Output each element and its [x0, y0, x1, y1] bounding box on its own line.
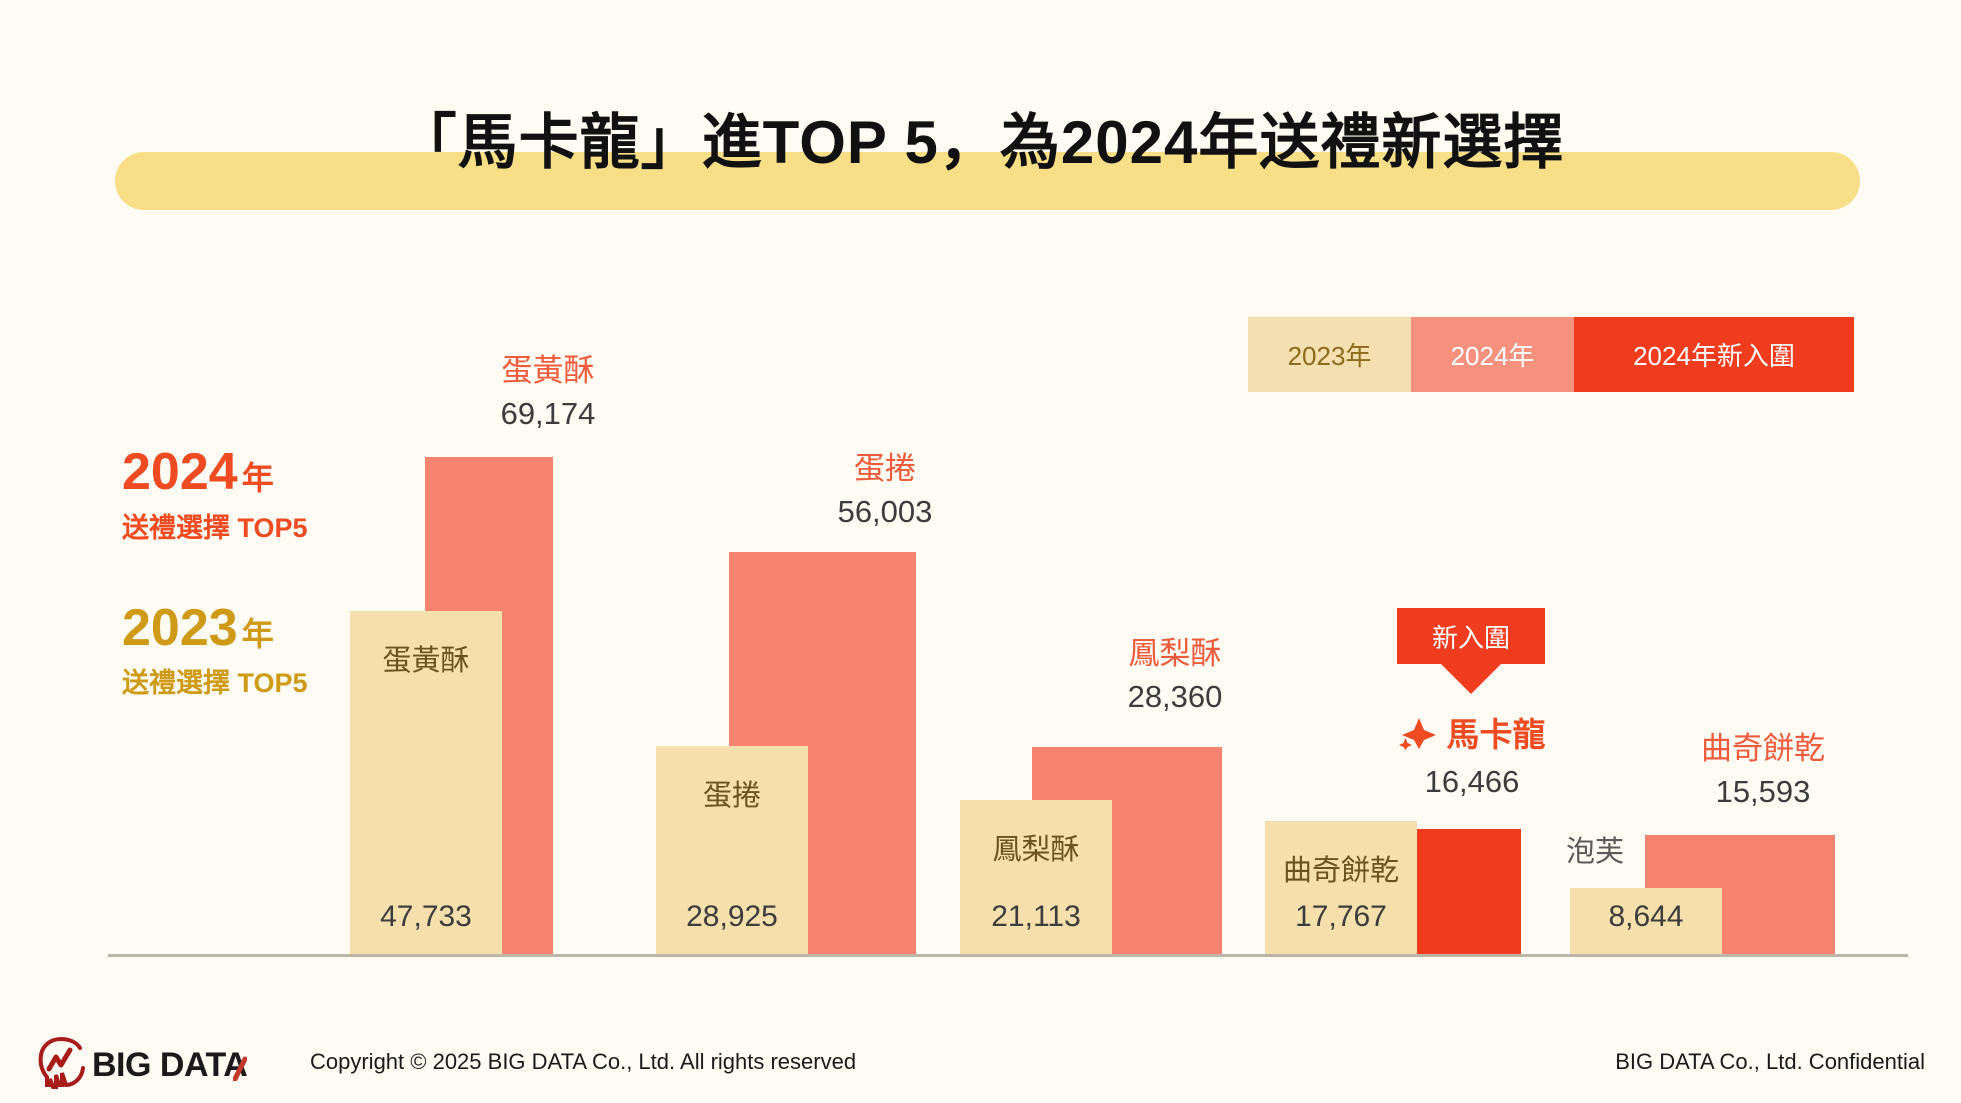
group-1-2024-top-label: 蛋黃酥 69,174: [418, 345, 678, 432]
bar-2023-group-2[interactable]: 蛋捲 28,925: [656, 746, 808, 954]
big-data-logo-icon: [36, 1035, 90, 1096]
group-4-2024-value: 16,466: [1342, 764, 1602, 800]
group-5-2024-top-label: 曲奇餅乾 15,593: [1633, 723, 1893, 810]
bar-2023-group-3-value: 21,113: [960, 900, 1112, 934]
bar-2023-group-1-value: 47,733: [350, 900, 502, 934]
new-entry-badge-pointer: [1441, 664, 1501, 694]
brand-logo-text: BIG DATA: [92, 1046, 247, 1085]
bar-2023-group-1-label: 蛋黃酥: [350, 637, 502, 679]
bar-2023-group-3-label: 鳳梨酥: [960, 826, 1112, 868]
group-1-2024-name: 蛋黃酥: [418, 345, 678, 390]
brand-logo: BIG DATA: [36, 1035, 247, 1096]
sparkle-icon: [1399, 716, 1439, 758]
confidential-text: BIG DATA Co., Ltd. Confidential: [1615, 1049, 1925, 1075]
bar-2023-group-3[interactable]: 鳳梨酥 21,113: [960, 800, 1112, 954]
chart-baseline-axis: [108, 954, 1908, 957]
group-5-2024-name: 曲奇餅乾: [1633, 723, 1893, 768]
bar-2023-group-4-value: 17,767: [1265, 900, 1417, 934]
bar-2023-group-4-label: 曲奇餅乾: [1265, 847, 1417, 889]
bar-2023-group-5-value: 8,644: [1570, 900, 1722, 934]
group-3-2024-top-label: 鳳梨酥 28,360: [1045, 628, 1305, 715]
group-3-2024-value: 28,360: [1045, 679, 1305, 715]
new-entry-badge: 新入圍: [1397, 608, 1545, 664]
group-4-2024-top-label: 馬卡龍 16,466: [1342, 708, 1602, 800]
group-5-2024-value: 15,593: [1633, 774, 1893, 810]
bar-2023-group-2-value: 28,925: [656, 900, 808, 934]
bar-2023-group-4[interactable]: 曲奇餅乾 17,767: [1265, 821, 1417, 954]
footer: BIG DATA Copyright © 2025 BIG DATA Co., …: [0, 1013, 1961, 1103]
group-3-2024-name: 鳳梨酥: [1045, 628, 1305, 673]
bar-2023-group-2-label: 蛋捲: [656, 772, 808, 814]
group-4-2024-name: 馬卡龍: [1342, 708, 1602, 758]
bar-2023-group-5[interactable]: 8,644: [1570, 888, 1722, 954]
bar-2023-group-1[interactable]: 蛋黃酥 47,733: [350, 611, 502, 954]
copyright-text: Copyright © 2025 BIG DATA Co., Ltd. All …: [310, 1049, 856, 1075]
group-4-2024-name-text: 馬卡龍: [1447, 716, 1546, 753]
group-2-2024-top-label: 蛋捲 56,003: [755, 443, 1015, 530]
group-1-2024-value: 69,174: [418, 396, 678, 432]
group-2-2024-name: 蛋捲: [755, 443, 1015, 488]
bar-chart: 蛋黃酥 69,174 蛋黃酥 47,733 蛋捲 56,003 蛋捲 28,92…: [0, 0, 1961, 1103]
group-2-2024-value: 56,003: [755, 494, 1015, 530]
